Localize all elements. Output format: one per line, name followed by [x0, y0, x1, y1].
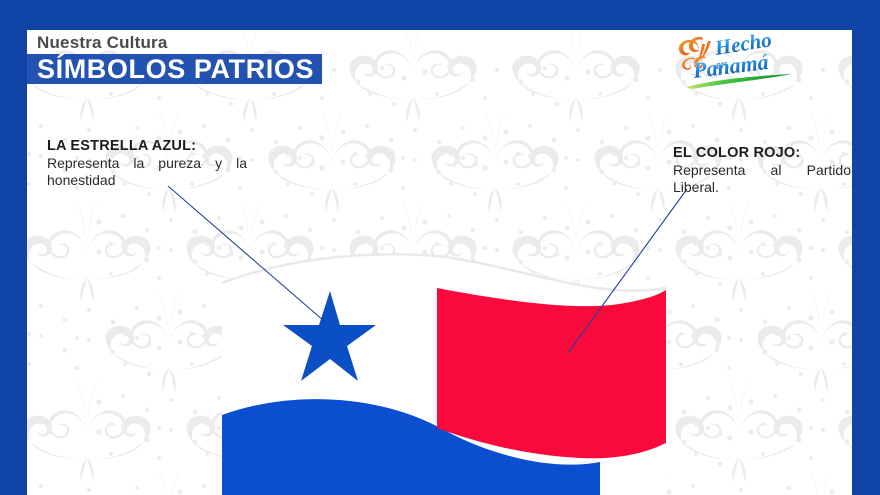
watermark-background [27, 30, 852, 495]
frame-top-bar [0, 0, 880, 30]
page-title: SÍMBOLOS PATRIOS [37, 56, 314, 83]
annotation-estrella-azul-title: LA ESTRELLA AZUL: [47, 138, 247, 154]
frame-right-bar [852, 0, 880, 495]
annotation-color-rojo-title: EL COLOR ROJO: [673, 145, 851, 161]
damask-pattern-icon [27, 30, 852, 495]
frame-left-bar [0, 0, 27, 495]
annotation-color-rojo: EL COLOR ROJO: Representa al Partido Lib… [673, 145, 851, 196]
annotation-estrella-azul: LA ESTRELLA AZUL: Representa la pureza y… [47, 138, 247, 189]
annotation-estrella-azul-body: Representa la pureza y la honestidad [47, 155, 247, 189]
hecho-en-panama-logo: Hecho en Panamá [672, 28, 804, 90]
annotation-color-rojo-body: Representa al Partido Liberal. [673, 162, 851, 196]
page-kicker: Nuestra Cultura [37, 33, 168, 53]
poster-canvas: Nuestra Cultura SÍMBOLOS PATRIOS [0, 0, 880, 495]
page-title-band: SÍMBOLOS PATRIOS [27, 54, 322, 84]
